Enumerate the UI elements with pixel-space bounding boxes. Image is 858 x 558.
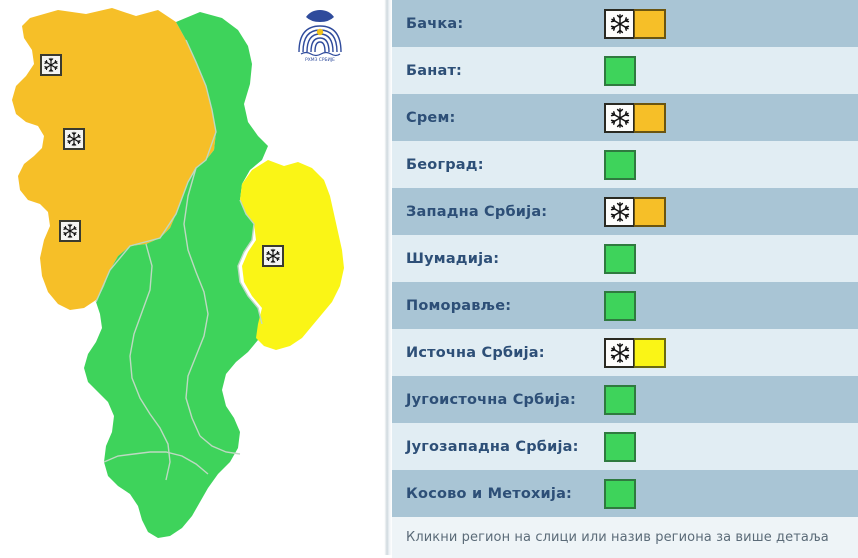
serbia-map-graphic[interactable] [0, 0, 380, 555]
warning-color-swatch-green [604, 244, 636, 274]
marker-zapadna-srbija[interactable] [59, 220, 81, 242]
list-footer-hint: Кликни регион на слици или назив региона… [392, 517, 858, 558]
warning-color-swatch-orange [634, 103, 666, 133]
warning-badge [604, 479, 636, 509]
serbia-map-pane[interactable]: РХМЗ СРБИЈЕ [0, 0, 380, 555]
pane-divider [381, 0, 392, 555]
marker-vojvodina-west[interactable] [40, 54, 62, 76]
region-name-label[interactable]: Срем: [392, 110, 604, 126]
region-name-label[interactable]: Источна Србија: [392, 345, 604, 361]
warning-badge [604, 9, 666, 39]
region-name-label[interactable]: Западна Србија: [392, 204, 604, 220]
warning-color-swatch-green [604, 291, 636, 321]
snowflake-icon [66, 131, 82, 147]
region-name-label[interactable]: Београд: [392, 157, 604, 173]
region-warning-list: Бачка: Банат: [392, 0, 858, 555]
snowflake-icon [265, 248, 281, 264]
warning-color-swatch-orange [634, 197, 666, 227]
list-item[interactable]: Банат: [392, 47, 858, 94]
warning-color-swatch-green [604, 56, 636, 86]
warning-badge [604, 338, 666, 368]
snowflake-icon-box [604, 103, 634, 133]
marker-srem[interactable] [63, 128, 85, 150]
warning-color-swatch-green [604, 150, 636, 180]
list-item[interactable]: Шумадија: [392, 235, 858, 282]
region-name-label[interactable]: Банат: [392, 63, 604, 79]
warning-color-swatch-green [604, 432, 636, 462]
warning-badge [604, 103, 666, 133]
list-item[interactable]: Бачка: [392, 0, 858, 47]
svg-text:РХМЗ СРБИЈЕ: РХМЗ СРБИЈЕ [305, 57, 335, 63]
warning-color-swatch-green [604, 385, 636, 415]
list-item[interactable]: Београд: [392, 141, 858, 188]
warning-color-swatch-yellow [634, 338, 666, 368]
warning-badge [604, 291, 636, 321]
snowflake-icon [609, 201, 631, 223]
snowflake-icon [609, 13, 631, 35]
list-item[interactable]: Југоисточна Србија: [392, 376, 858, 423]
weather-warning-widget: РХМЗ СРБИЈЕ [0, 0, 858, 555]
list-item[interactable]: Западна Србија: [392, 188, 858, 235]
list-item[interactable]: Срем: [392, 94, 858, 141]
warning-color-swatch-green [604, 479, 636, 509]
region-name-label[interactable]: Бачка: [392, 16, 604, 32]
warning-badge [604, 150, 636, 180]
list-item[interactable]: Источна Србија: [392, 329, 858, 376]
region-name-label[interactable]: Југозападна Србија: [392, 439, 604, 455]
warning-badge [604, 197, 666, 227]
warning-badge [604, 56, 636, 86]
region-name-label[interactable]: Поморавље: [392, 298, 604, 314]
snowflake-icon [43, 57, 59, 73]
rhmz-serbia-logo: РХМЗ СРБИЈЕ [289, 2, 351, 64]
region-name-label[interactable]: Југоисточна Србија: [392, 392, 604, 408]
list-item[interactable]: Југозападна Србија: [392, 423, 858, 470]
snowflake-icon [62, 223, 78, 239]
warning-badge [604, 385, 636, 415]
snowflake-icon [609, 107, 631, 129]
snowflake-icon-box [604, 9, 634, 39]
marker-istocna-srbija[interactable] [262, 245, 284, 267]
warning-badge [604, 432, 636, 462]
region-name-label[interactable]: Шумадија: [392, 251, 604, 267]
warning-color-swatch-orange [634, 9, 666, 39]
snowflake-icon-box [604, 338, 634, 368]
snowflake-icon [609, 342, 631, 364]
snowflake-icon-box [604, 197, 634, 227]
region-name-label[interactable]: Косово и Метохија: [392, 486, 604, 502]
list-item[interactable]: Поморавље: [392, 282, 858, 329]
warning-badge [604, 244, 636, 274]
list-item[interactable]: Косово и Метохија: [392, 470, 858, 517]
